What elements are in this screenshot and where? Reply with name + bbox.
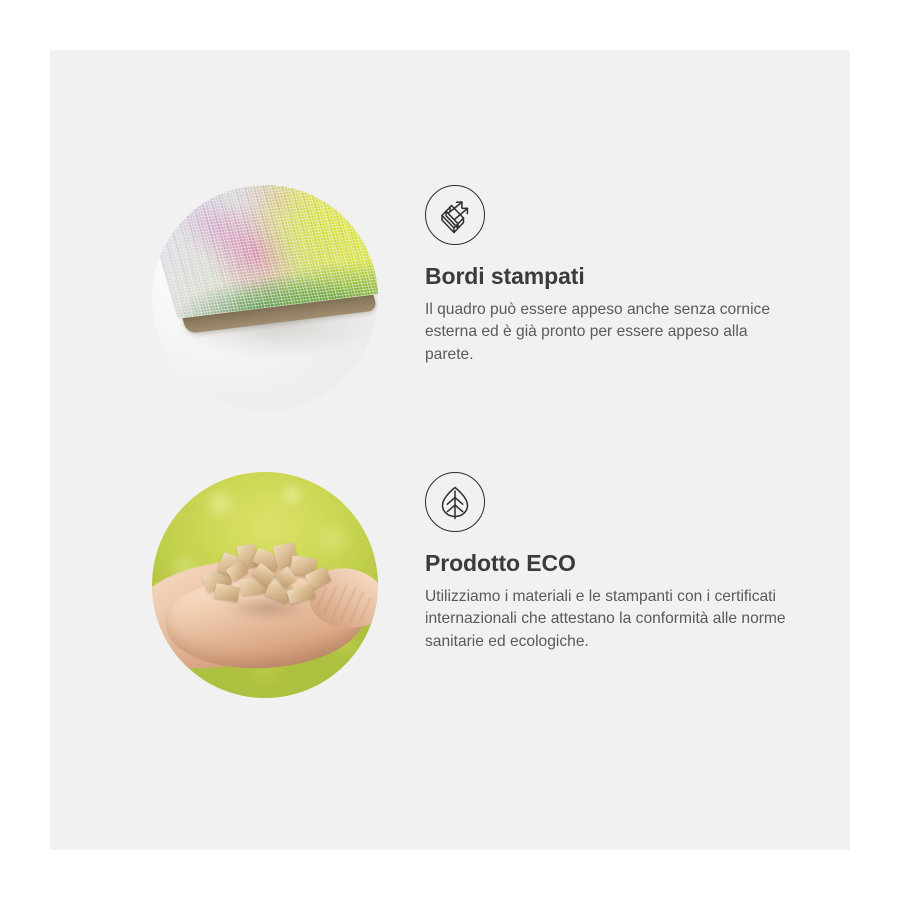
feature-title: Prodotto ECO (425, 550, 805, 578)
eco-photo-illustration (152, 472, 378, 698)
wood-chip-pile (202, 540, 333, 608)
feature-copy-eco-product: Prodotto ECO Utilizziamo i materiali e l… (425, 472, 805, 654)
canvas-print-edge-photo (152, 185, 378, 411)
leaf-glyph (437, 484, 473, 520)
feature-title: Bordi stampati (425, 263, 805, 291)
wood-chip (214, 583, 240, 602)
feature-description: Il quadro può essere appeso anche senza … (425, 299, 790, 367)
feature-copy-printed-edges: Bordi stampati Il quadro può essere appe… (425, 185, 805, 367)
leaf-icon (425, 472, 485, 532)
wrapped-canvas-edges-icon (425, 185, 485, 245)
product-feature-page: Bordi stampati Il quadro può essere appe… (0, 0, 900, 900)
content-panel: Bordi stampati Il quadro può essere appe… (50, 50, 850, 850)
feature-description: Utilizziamo i materiali e le stampanti c… (425, 586, 790, 654)
eco-wood-chips-photo (152, 472, 378, 698)
canvas-print-illustration (152, 185, 378, 411)
wrapped-canvas-edges-glyph (436, 196, 474, 234)
